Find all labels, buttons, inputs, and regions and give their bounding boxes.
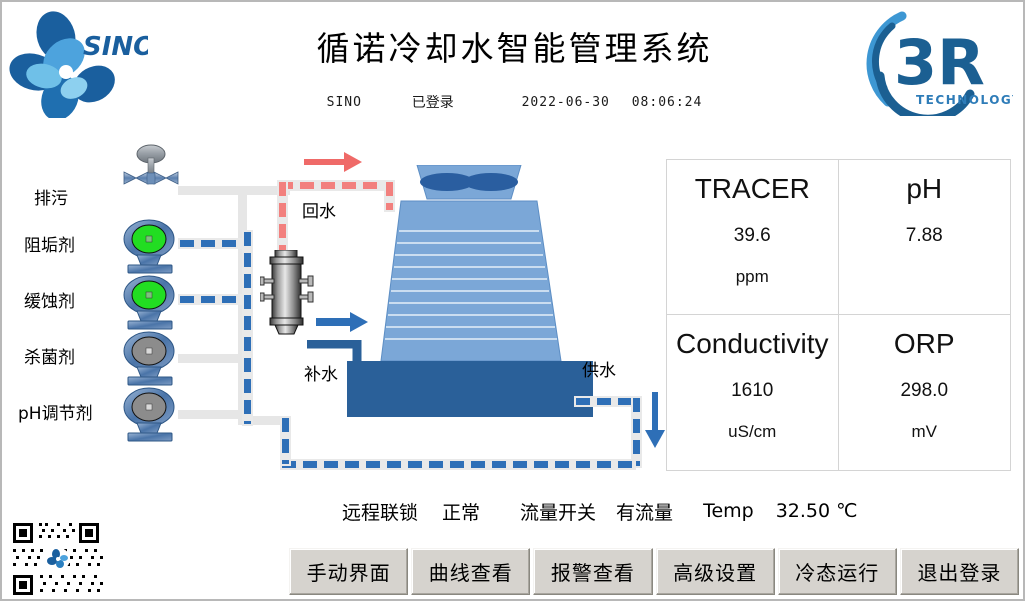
button-manual-screen[interactable]: 手动界面 xyxy=(289,548,408,595)
feed-label-ph-adjuster: pH调节剂 xyxy=(18,399,93,424)
flow-switch-label: 流量开关 xyxy=(520,498,596,525)
cooling-tower xyxy=(339,165,601,420)
feed-label-corrosion-inhibitor: 缓蚀剂 xyxy=(24,287,75,312)
measurement-cell-conductivity: Conductivity 1610 uS/cm xyxy=(667,315,839,470)
dosing-pump-scale-inhibitor[interactable] xyxy=(119,219,183,274)
blowdown-valve-icon[interactable] xyxy=(120,144,182,199)
feed-label-biocide: 杀菌剂 xyxy=(24,343,75,368)
measurement-name: ORP xyxy=(894,329,955,360)
button-trend-view[interactable]: 曲线查看 xyxy=(411,548,530,595)
temp-label: Temp xyxy=(703,500,754,522)
measurement-name: Conductivity xyxy=(676,329,829,360)
system-status-row: 远程联锁 正常 流量开关 有流量 Temp 32.50 ℃ xyxy=(342,494,1022,528)
measurement-unit: uS/cm xyxy=(728,422,776,442)
supply-water-pipe-return xyxy=(280,416,291,466)
supply-water-label: 供水 xyxy=(582,356,616,381)
pipe-blowdown xyxy=(178,186,290,195)
3r-wordmark: 3R xyxy=(894,26,985,99)
return-water-label: 回水 xyxy=(302,197,336,222)
sensor-chamber-icon[interactable] xyxy=(260,250,314,336)
login-state: 已登录 xyxy=(412,92,454,112)
measurement-value: 39.6 xyxy=(734,225,771,247)
measurement-value: 7.88 xyxy=(906,225,943,247)
measurement-panel: TRACER 39.6 ppm pH 7.88 Conductivity 161… xyxy=(666,159,1011,471)
navigation-button-bar: 手动界面 曲线查看 报警查看 高级设置 冷态运行 退出登录 xyxy=(289,548,1019,595)
remote-interlock-value: 正常 xyxy=(442,498,480,525)
current-time: 08:06:24 xyxy=(632,95,703,110)
temp-value: 32.50 xyxy=(776,500,830,522)
qr-code xyxy=(7,517,111,601)
supply-water-pipe-right xyxy=(631,396,642,468)
current-date: 2022-06-30 xyxy=(522,95,610,110)
measurement-value: 298.0 xyxy=(900,380,948,402)
supply-water-flow-arrow xyxy=(643,390,667,450)
measurement-cell-tracer: TRACER 39.6 ppm xyxy=(667,160,839,315)
hmi-screen: SINO 循诺冷却水智能管理系统 SINO 已登录 2022-06-30 08:… xyxy=(0,0,1025,601)
pipe-ph xyxy=(178,410,246,419)
pipe-biocide xyxy=(178,354,246,363)
3r-technology-logo: 3R TECHNOLOGY xyxy=(858,6,1013,116)
button-advanced-setup[interactable]: 高级设置 xyxy=(656,548,775,595)
remote-interlock-label: 远程联锁 xyxy=(342,498,418,525)
feed-label-scale-inhibitor: 阻垢剂 xyxy=(24,231,75,256)
flow-switch-value: 有流量 xyxy=(616,498,673,525)
button-cold-run[interactable]: 冷态运行 xyxy=(778,548,897,595)
measurement-name: pH xyxy=(906,174,942,205)
measurement-name: TRACER xyxy=(695,174,810,205)
dosing-pump-biocide[interactable] xyxy=(119,331,183,386)
dash-line-scale-inhibitor xyxy=(178,238,250,249)
supply-water-pipe-bottom xyxy=(280,459,636,470)
feed-label-blowdown: 排污 xyxy=(34,184,68,209)
measurement-unit: ppm xyxy=(736,267,769,287)
measurement-cell-ph: pH 7.88 xyxy=(839,160,1011,315)
measurement-cell-orp: ORP 298.0 mV xyxy=(839,315,1011,470)
button-logout[interactable]: 退出登录 xyxy=(900,548,1019,595)
temp-unit: ℃ xyxy=(836,500,857,522)
dash-line-feed-riser xyxy=(242,230,253,426)
logged-in-user: SINO xyxy=(327,95,362,110)
technology-wordmark: TECHNOLOGY xyxy=(916,93,1013,107)
button-alarm-view[interactable]: 报警查看 xyxy=(533,548,652,595)
dosing-pump-corrosion-inhibitor[interactable] xyxy=(119,275,183,330)
dosing-pump-ph-adjuster[interactable] xyxy=(119,387,183,442)
measurement-value: 1610 xyxy=(731,380,773,402)
measurement-unit: mV xyxy=(912,422,938,442)
dash-line-corrosion-inhibitor xyxy=(178,294,250,305)
